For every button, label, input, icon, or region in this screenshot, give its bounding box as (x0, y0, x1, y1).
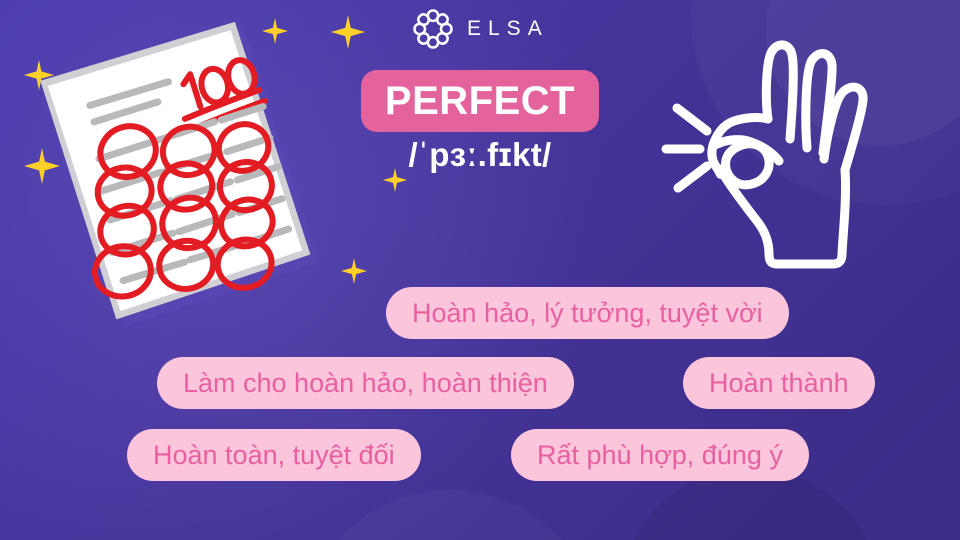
phonetic-transcription: /ˈpɜː.fɪkt/ (361, 136, 599, 174)
meaning-pill[interactable]: Rất phù hợp, đúng ý (511, 429, 809, 481)
meaning-pill[interactable]: Hoàn thành (683, 357, 875, 409)
meaning-pill-label: Làm cho hoàn hảo, hoàn thiện (183, 370, 548, 397)
vocabulary-word-badge: PERFECT (361, 70, 599, 132)
meaning-pill-label: Hoàn hảo, lý tưởng, tuyệt vời (412, 300, 763, 327)
meaning-pill[interactable]: Làm cho hoàn hảo, hoàn thiện (157, 357, 574, 409)
vocabulary-card-screen: ELSA PERFECT /ˈpɜː.fɪkt/ (0, 0, 960, 540)
elsa-flower-logo-icon (412, 8, 454, 50)
meaning-pill-label: Hoàn thành (709, 370, 849, 397)
meaning-pill-label: Rất phù hợp, đúng ý (537, 442, 783, 469)
meaning-pill[interactable]: Hoàn hảo, lý tưởng, tuyệt vời (386, 287, 789, 339)
vocabulary-word: PERFECT (385, 79, 575, 124)
ok-hand-gesture-icon (655, 18, 905, 273)
meaning-pill[interactable]: Hoàn toàn, tuyệt đối (127, 429, 421, 481)
elsa-wordmark: ELSA (467, 17, 549, 41)
meaning-pill-label: Hoàn toàn, tuyệt đối (153, 442, 395, 469)
elsa-logo: ELSA (412, 8, 549, 50)
graded-test-paper-illustration (6, 14, 336, 344)
